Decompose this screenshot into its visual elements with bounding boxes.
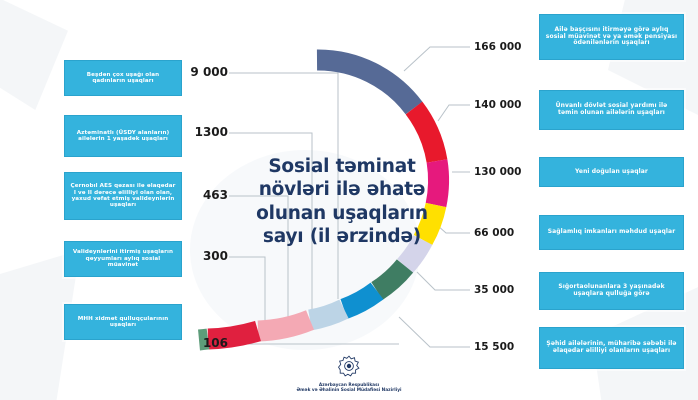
category-label-right-2[interactable]: Ünvanlı dövlət sosial yardımı ilə təmin … <box>539 90 684 130</box>
title-line: Sosial təminat <box>236 155 448 178</box>
azerbaijan-ministry-emblem <box>338 355 360 377</box>
category-label-left-5[interactable]: MHH xidmət qulluqçularının uşaqları <box>64 304 182 340</box>
category-label-right-5[interactable]: Sığortaolunanlara 3 yaşınadək uşaqlara q… <box>539 272 684 310</box>
value-left-3: 463 <box>150 188 228 202</box>
footer-text: Azərbaycan Respublikası Əmək və Əhalinin… <box>0 383 698 394</box>
category-label-right-3[interactable]: Yeni doğulan uşaqlar <box>539 157 684 187</box>
category-label-right-1[interactable]: Ailə başçısını itirməyə görə aylıq sosia… <box>539 14 684 60</box>
category-label-right-4[interactable]: Sağlamlıq imkanları məhdud uşaqlar <box>539 215 684 250</box>
value-right-6: 15 500 <box>474 341 514 353</box>
value-right-1: 166 000 <box>474 41 522 53</box>
value-right-3: 130 000 <box>474 166 522 178</box>
value-left-4: 300 <box>150 249 228 263</box>
value-right-4: 66 000 <box>474 227 514 239</box>
value-right-2: 140 000 <box>474 99 522 111</box>
arc-segment-1 <box>317 60 414 108</box>
infographic-canvas: Sosial təminat növləri ilə əhatə olunan … <box>0 0 698 400</box>
value-left-1: 9 000 <box>150 65 228 79</box>
page-title: Sosial təminat növləri ilə əhatə olunan … <box>236 155 448 248</box>
value-left-5: 106 <box>150 336 228 350</box>
title-line: olunan uşaqların <box>236 202 448 225</box>
arc-segment-2 <box>414 108 437 161</box>
arc-segment-8 <box>310 309 344 320</box>
arc-segment-7 <box>344 291 377 309</box>
arc-segment-9 <box>258 320 310 331</box>
footer: Azərbaycan Respublikası Əmək və Əhalinin… <box>0 355 698 394</box>
title-line: sayı (il ərzində) <box>236 225 448 248</box>
footer-line-2: Əmək və Əhalinin Sosial Müdafiəsi Nazirl… <box>0 388 698 394</box>
value-left-2: 1300 <box>150 125 228 139</box>
value-right-5: 35 000 <box>474 284 514 296</box>
arc-segment-6 <box>377 266 405 291</box>
title-line: növləri ilə əhatə <box>236 178 448 201</box>
